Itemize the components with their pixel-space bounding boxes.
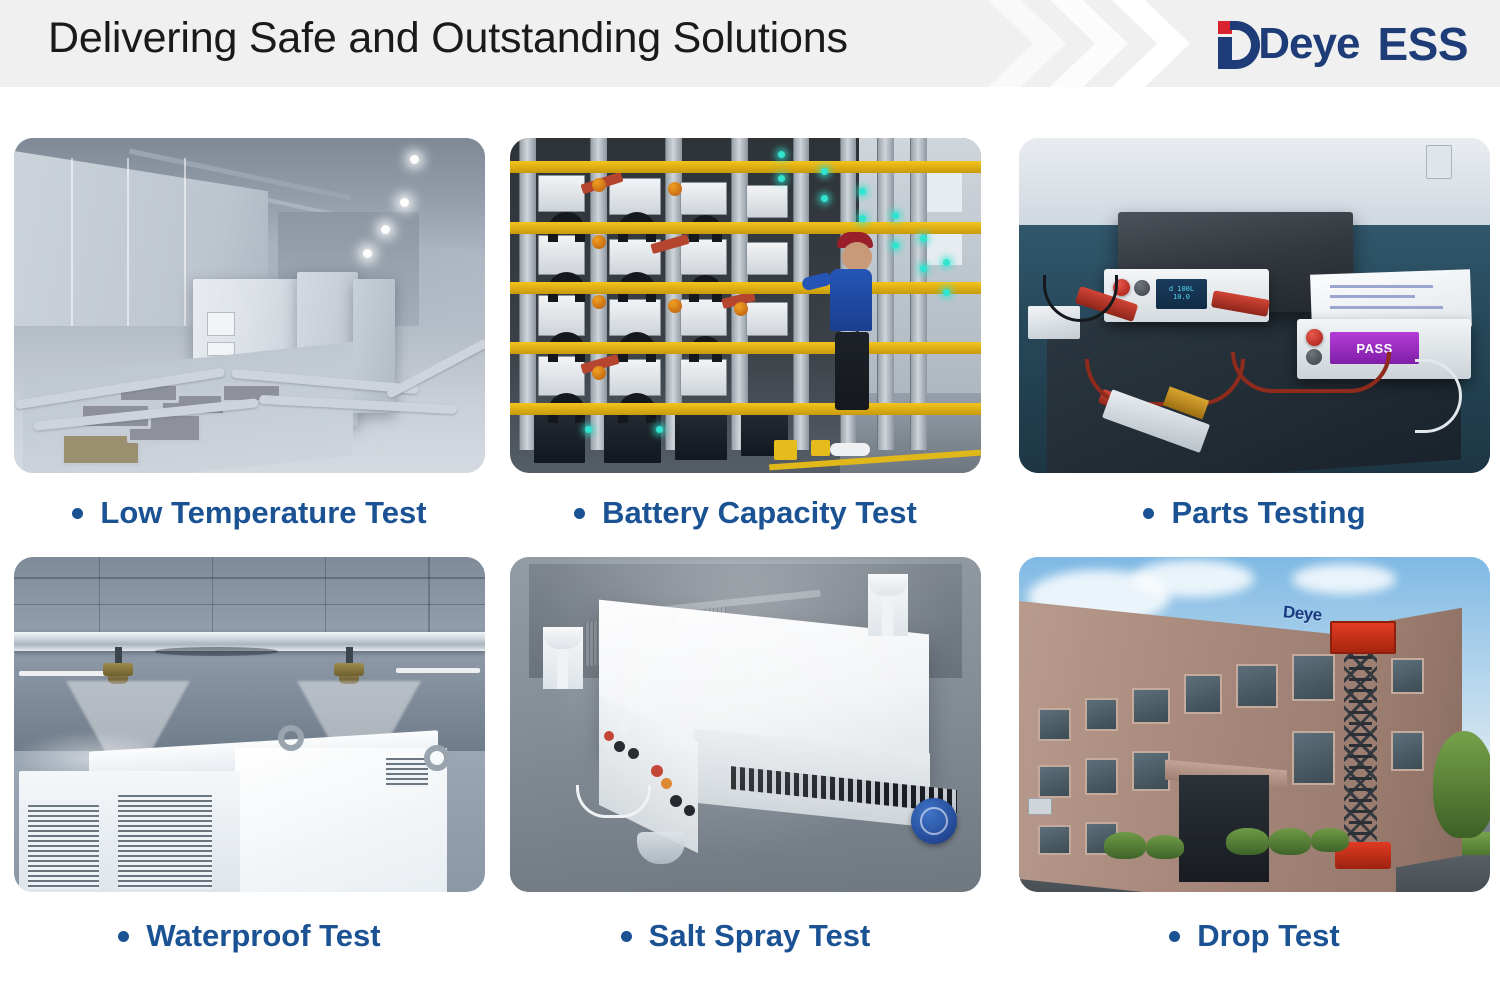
shrub bbox=[1269, 828, 1311, 855]
gallery-item-waterproof-test[interactable]: Waterproof Test bbox=[14, 557, 485, 954]
building-window bbox=[1132, 688, 1170, 725]
status-light bbox=[859, 215, 866, 222]
building-window bbox=[1038, 825, 1071, 855]
building-sign-text: Deye bbox=[1282, 602, 1322, 625]
battery-module bbox=[538, 175, 585, 212]
spray-nozzle bbox=[103, 647, 133, 684]
ceiling-tile-line bbox=[14, 604, 485, 606]
bullet-icon bbox=[1143, 508, 1154, 519]
building-window bbox=[1038, 708, 1071, 742]
status-light bbox=[821, 168, 828, 175]
photo-low-temperature-test bbox=[14, 138, 485, 473]
photo-parts-testing: d 100L 10.0 PASS bbox=[1019, 138, 1490, 473]
scissor-lift-basket bbox=[1330, 621, 1396, 655]
lifting-eyebolt bbox=[424, 745, 450, 771]
bullet-icon bbox=[621, 931, 632, 942]
caption-parts-testing: Parts Testing bbox=[1019, 495, 1490, 531]
air-conditioner-unit bbox=[1028, 798, 1052, 815]
bullet-icon bbox=[72, 508, 83, 519]
shrub bbox=[1226, 828, 1268, 855]
ceiling-tube-light bbox=[396, 668, 481, 673]
cabinet-vent bbox=[118, 795, 212, 889]
caption-text: Low Temperature Test bbox=[100, 495, 426, 531]
nozzle-body bbox=[334, 663, 364, 676]
spray-nozzle bbox=[334, 647, 364, 684]
worker-blue-shirt bbox=[830, 269, 872, 331]
rail-shadow bbox=[155, 647, 277, 655]
gallery-item-low-temperature-test[interactable]: Low Temperature Test bbox=[14, 138, 485, 531]
photo-salt-spray-test bbox=[510, 557, 981, 892]
lifting-eyebolt bbox=[278, 725, 304, 751]
building-window bbox=[1038, 765, 1071, 799]
logo-brand-text: Deye bbox=[1258, 22, 1359, 66]
report-line bbox=[1330, 306, 1443, 309]
status-light bbox=[892, 242, 899, 249]
floor-guard bbox=[811, 440, 830, 457]
battery-module bbox=[680, 182, 727, 216]
status-light bbox=[656, 426, 663, 433]
bullet-icon bbox=[1169, 931, 1180, 942]
scissor-lift-mast bbox=[1349, 634, 1373, 855]
status-light bbox=[859, 188, 866, 195]
shrub bbox=[1104, 832, 1146, 859]
nozzle-stem bbox=[115, 647, 122, 663]
report-line bbox=[1330, 295, 1415, 298]
building-window bbox=[1236, 664, 1278, 708]
nozzle-body bbox=[103, 663, 133, 676]
tree bbox=[1433, 731, 1490, 838]
gallery-item-drop-test[interactable]: Deye Drop Test bbox=[1019, 557, 1490, 954]
ceiling-tube-light bbox=[19, 671, 113, 676]
test-gallery-grid: Low Temperature Test bbox=[0, 87, 1500, 1002]
status-light bbox=[943, 259, 950, 266]
worker-legs bbox=[835, 332, 869, 410]
caption-salt-spray-test: Salt Spray Test bbox=[510, 918, 981, 954]
bullet-icon bbox=[118, 931, 129, 942]
caption-text: Battery Capacity Test bbox=[602, 495, 917, 531]
red-test-lead bbox=[1231, 352, 1391, 392]
cabinet-panel bbox=[207, 312, 235, 335]
emergency-stop-button bbox=[668, 299, 682, 313]
cabinet-vent bbox=[28, 805, 99, 889]
rack-beam bbox=[510, 342, 981, 354]
building-window bbox=[1391, 658, 1424, 695]
rack-beam bbox=[510, 161, 981, 173]
wall-socket bbox=[1426, 145, 1452, 179]
caption-waterproof-test: Waterproof Test bbox=[14, 918, 485, 954]
ceiling-tile-line bbox=[212, 557, 214, 634]
worker-shoe bbox=[830, 443, 870, 456]
photo-battery-capacity-test bbox=[510, 138, 981, 473]
gallery-item-parts-testing[interactable]: d 100L 10.0 PASS Part bbox=[1019, 138, 1490, 531]
building-window bbox=[1292, 731, 1334, 785]
deye-ess-logo: Deye ESS bbox=[1218, 16, 1468, 72]
battery-module bbox=[609, 299, 661, 336]
shrub bbox=[1146, 835, 1184, 858]
ceiling-tile-line bbox=[14, 577, 485, 579]
worker-head bbox=[842, 242, 872, 272]
emergency-stop-button bbox=[734, 302, 748, 316]
gallery-item-salt-spray-test[interactable]: Salt Spray Test bbox=[510, 557, 981, 954]
cloud bbox=[1292, 564, 1396, 594]
rack-beam bbox=[510, 282, 981, 294]
bullet-icon bbox=[574, 508, 585, 519]
battery-module-dark bbox=[675, 413, 727, 460]
caption-low-temperature-test: Low Temperature Test bbox=[14, 495, 485, 531]
ceiling-tile-line bbox=[325, 557, 327, 634]
building-window bbox=[1292, 654, 1334, 701]
ceiling-tile-line bbox=[428, 557, 430, 634]
page-title: Delivering Safe and Outstanding Solution… bbox=[48, 14, 848, 63]
battery-module bbox=[746, 242, 788, 276]
salt-fog-overlay bbox=[510, 557, 981, 892]
logo-d-mark-icon bbox=[1218, 19, 1258, 69]
floor-guard bbox=[774, 440, 798, 460]
caption-text: Parts Testing bbox=[1171, 495, 1365, 531]
caption-battery-capacity-test: Battery Capacity Test bbox=[510, 495, 981, 531]
shrub bbox=[1311, 828, 1349, 851]
photo-waterproof-test bbox=[14, 557, 485, 892]
status-light bbox=[778, 175, 785, 182]
ceiling-tile-line bbox=[99, 557, 101, 634]
battery-module bbox=[746, 302, 788, 336]
battery-module bbox=[746, 185, 788, 219]
cabinet-vent bbox=[386, 758, 428, 788]
rack-beam bbox=[510, 403, 981, 415]
caption-drop-test: Drop Test bbox=[1019, 918, 1490, 954]
battery-module bbox=[680, 359, 727, 396]
nozzle-stem bbox=[346, 647, 353, 663]
ceiling-light bbox=[410, 155, 419, 164]
instrument-reading-line2: 10.0 bbox=[1173, 294, 1190, 302]
photo-drop-test: Deye bbox=[1019, 557, 1490, 892]
ceiling-light bbox=[363, 249, 372, 258]
battery-module bbox=[680, 299, 727, 336]
caption-text: Salt Spray Test bbox=[649, 918, 871, 954]
slide-header: Delivering Safe and Outstanding Solution… bbox=[0, 0, 1500, 87]
logo-d-bowl-icon bbox=[1230, 21, 1260, 69]
building-window bbox=[1184, 674, 1222, 714]
status-light bbox=[821, 195, 828, 202]
status-light bbox=[892, 212, 899, 219]
gallery-item-battery-capacity-test[interactable]: Battery Capacity Test bbox=[510, 138, 981, 531]
chevron-right-icon bbox=[988, 0, 1066, 87]
rack-beam bbox=[510, 222, 981, 234]
instrument-display-left: d 100L 10.0 bbox=[1156, 279, 1208, 309]
logo-suffix-text: ESS bbox=[1377, 21, 1468, 67]
status-light bbox=[920, 235, 927, 242]
battery-module bbox=[609, 178, 661, 215]
building-window bbox=[1085, 758, 1118, 795]
battery-module bbox=[609, 359, 661, 396]
building-window bbox=[1085, 698, 1118, 732]
building-window bbox=[1391, 731, 1424, 771]
caption-text: Waterproof Test bbox=[146, 918, 380, 954]
report-line bbox=[1330, 285, 1434, 288]
status-light bbox=[778, 151, 785, 158]
emergency-stop-button bbox=[668, 182, 682, 196]
caption-text: Drop Test bbox=[1197, 918, 1339, 954]
